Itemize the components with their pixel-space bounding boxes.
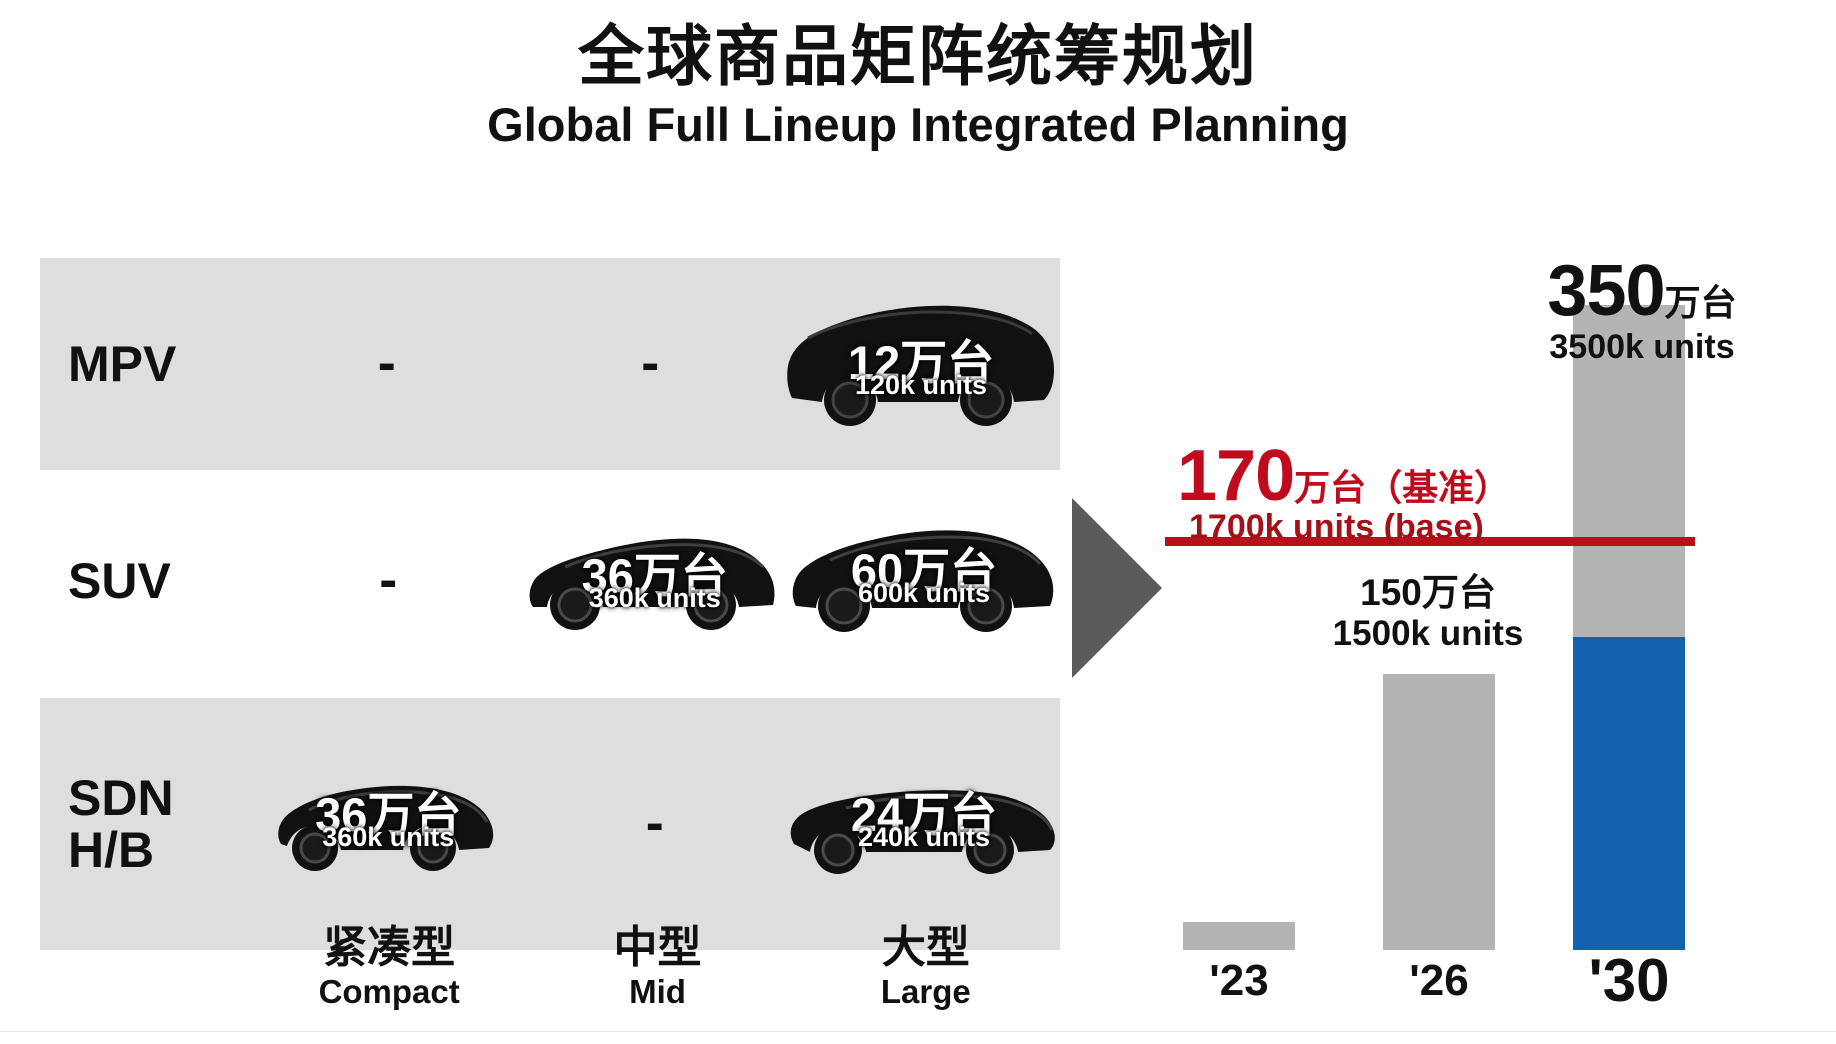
cell-mpv-compact: -	[255, 258, 519, 470]
column-header-compact-en: Compact	[255, 973, 523, 1011]
column-header-large-en: Large	[792, 973, 1060, 1011]
title-block: 全球商品矩阵统筹规划 Global Full Lineup Integrated…	[0, 22, 1836, 152]
annotation-350-sub: 3500k units	[1517, 328, 1767, 367]
cell-suv-mid: 36万台 360k units	[522, 486, 789, 676]
annotation-350-unit: 万台	[1665, 282, 1737, 323]
column-header-mid: 中型 Mid	[523, 925, 791, 1011]
volume-bar-chart: 170万台（基准） 1700k units (base) 350万台 3500k…	[1165, 250, 1805, 950]
cell-sdn-large: 24万台 240k units	[788, 698, 1060, 950]
row-label-mpv: MPV	[40, 338, 255, 391]
row-label-sdn-hb: SDN H/B	[40, 772, 255, 877]
minivan-silhouette-icon	[782, 294, 1060, 434]
annotation-150-sub: 1500k units	[1313, 614, 1543, 654]
annotation-350-number: 350	[1547, 251, 1664, 331]
reference-label-170: 170万台（基准）	[1177, 435, 1510, 517]
row-label-suv: SUV	[40, 555, 255, 608]
axis-label-year-30: '30	[1565, 946, 1693, 1015]
cell-mpv-large: 12万台 120k units	[782, 258, 1060, 470]
empty-dash: -	[378, 353, 396, 375]
vehicle-sedan: 24万台 240k units	[788, 768, 1060, 880]
column-header-mid-cn: 中型	[523, 925, 791, 971]
bar-30	[1573, 305, 1685, 950]
empty-dash: -	[646, 813, 664, 835]
cell-mpv-mid: -	[519, 258, 783, 470]
annotation-350: 350万台 3500k units	[1517, 250, 1767, 367]
matrix-row-sdn-hb: SDN H/B 36万台 360k units -	[40, 698, 1060, 950]
lineup-matrix: MPV - - 12万台 120k units	[40, 258, 1060, 918]
vehicle-hatchback: 36万台 360k units	[275, 768, 501, 880]
matrix-row-suv: SUV - 36万台 360k units	[40, 486, 1060, 676]
hatchback-silhouette-icon	[275, 768, 501, 880]
reference-label-1700k: 1700k units (base)	[1189, 508, 1484, 547]
slide-bottom-edge	[0, 1031, 1836, 1044]
axis-label-year-26: '26	[1383, 956, 1495, 1006]
page-title-cn: 全球商品矩阵统筹规划	[0, 22, 1836, 91]
header-spacer	[40, 925, 255, 1011]
page-title-en: Global Full Lineup Integrated Planning	[0, 97, 1836, 152]
cell-sdn-mid: -	[522, 698, 789, 950]
annotation-350-line1: 350万台	[1517, 250, 1767, 332]
annotation-150: 150万台 1500k units	[1313, 562, 1543, 654]
cell-suv-large: 60万台 600k units	[788, 486, 1060, 676]
bar-30-segment-blue	[1573, 637, 1685, 950]
suv-silhouette-icon	[788, 518, 1060, 644]
vehicle-minivan: 12万台 120k units	[782, 294, 1060, 434]
column-header-mid-en: Mid	[523, 973, 791, 1011]
cell-suv-compact: -	[255, 486, 522, 676]
axis-label-year-23: '23	[1183, 956, 1295, 1006]
matrix-column-headers: 紧凑型 Compact 中型 Mid 大型 Large	[40, 925, 1060, 1011]
sedan-silhouette-icon	[788, 768, 1060, 880]
crossover-silhouette-icon	[525, 521, 785, 641]
column-header-large: 大型 Large	[792, 925, 1060, 1011]
cell-sdn-compact: 36万台 360k units	[255, 698, 522, 950]
column-header-compact: 紧凑型 Compact	[255, 925, 523, 1011]
reference-label-unit: 万台（基准）	[1294, 467, 1510, 508]
vehicle-suv: 60万台 600k units	[788, 518, 1060, 644]
right-arrow-icon	[1072, 498, 1162, 678]
transition-arrow	[1072, 498, 1162, 683]
empty-dash: -	[379, 570, 397, 592]
bar-23	[1183, 922, 1295, 950]
matrix-row-mpv: MPV - - 12万台 120k units	[40, 258, 1060, 470]
annotation-150-cn: 150万台	[1313, 562, 1543, 616]
column-header-compact-cn: 紧凑型	[255, 925, 523, 971]
reference-label-number: 170	[1177, 436, 1294, 516]
bar-26	[1383, 674, 1495, 950]
vehicle-crossover: 36万台 360k units	[525, 521, 785, 641]
column-header-large-cn: 大型	[792, 925, 1060, 971]
empty-dash: -	[641, 353, 659, 375]
